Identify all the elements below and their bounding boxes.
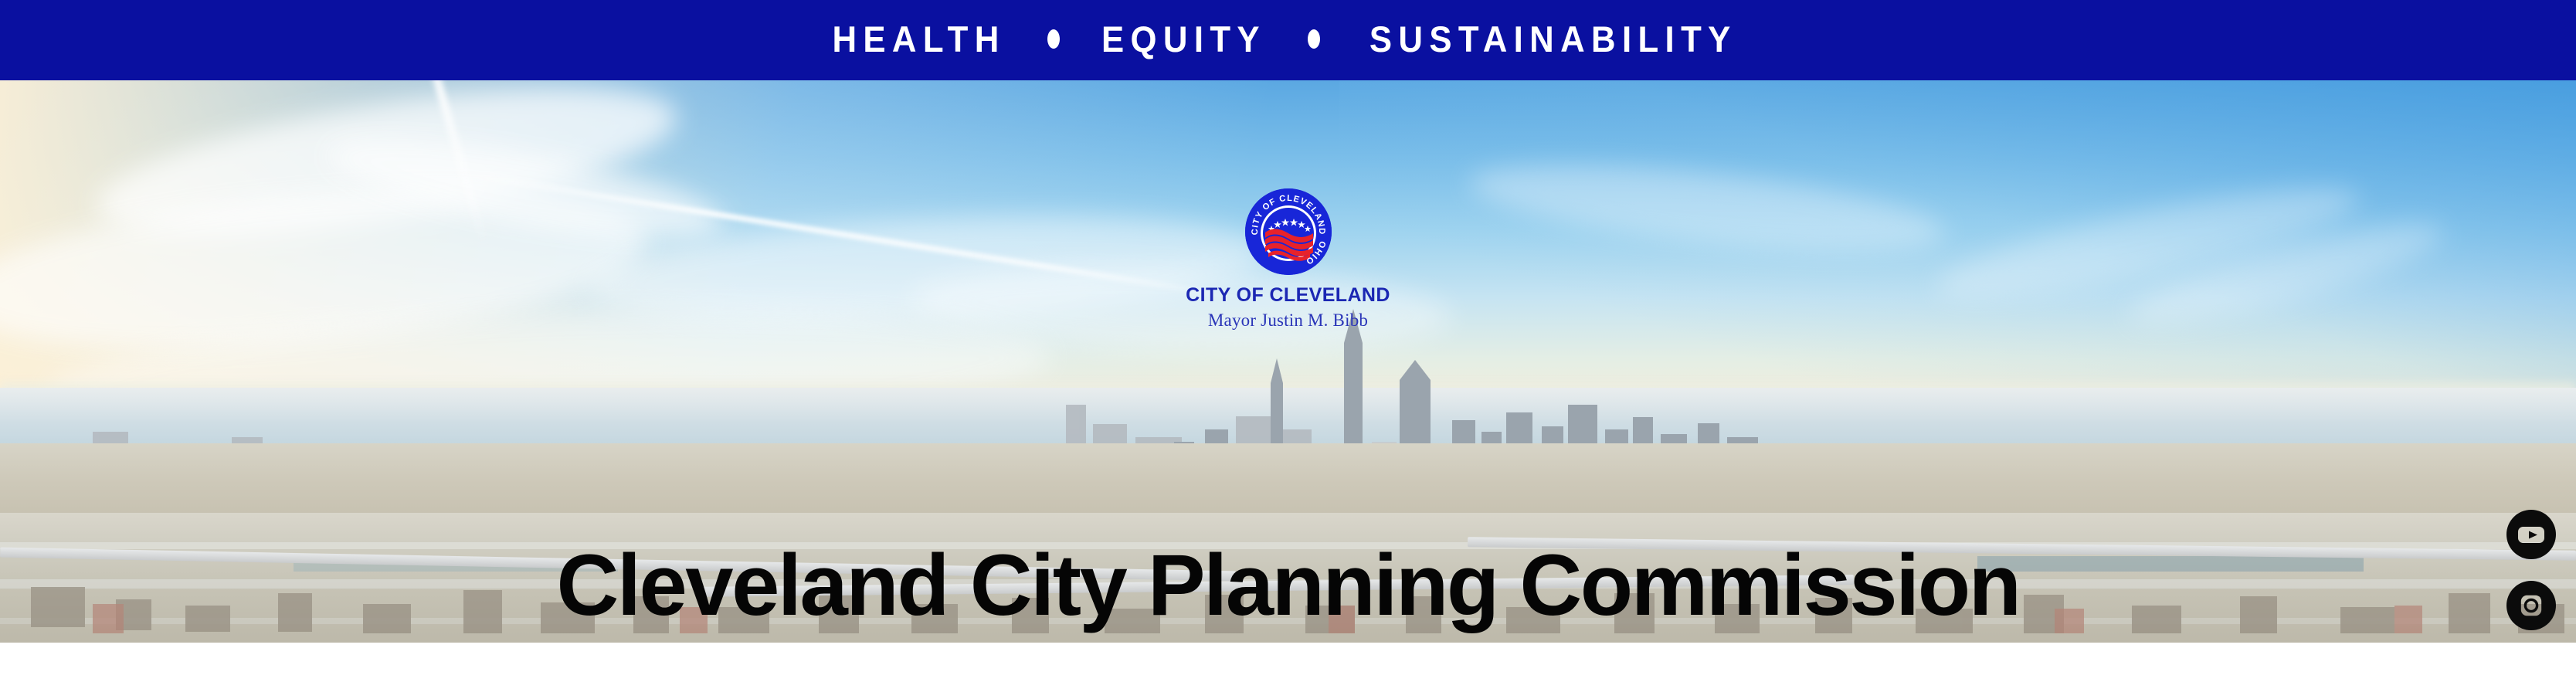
bullet-dot-icon [1047, 29, 1060, 49]
bullet-dot-icon [1308, 29, 1320, 49]
social-links [2506, 510, 2557, 643]
tagline-word-equity: EQUITY [1101, 21, 1266, 57]
tagline-word-health: HEALTH [832, 21, 1005, 57]
bottom-whitespace [0, 643, 2576, 682]
city-logo-subtitle: Mayor Justin M. Bibb [1208, 311, 1368, 329]
page-title: Cleveland City Planning Commission [0, 542, 2576, 629]
instagram-icon[interactable] [2506, 581, 2556, 630]
city-logo: CITY OF CLEVELAND OHIO CITY OF CLEVELAND… [1111, 188, 1466, 329]
city-logo-title: CITY OF CLEVELAND [1186, 286, 1390, 305]
youtube-icon[interactable] [2506, 510, 2556, 559]
hero-photo: CITY OF CLEVELAND OHIO CITY OF CLEVELAND… [0, 80, 2576, 643]
tagline-group: HEALTH EQUITY SUSTAINABILITY [826, 21, 1751, 57]
tagline-banner: HEALTH EQUITY SUSTAINABILITY [0, 0, 2576, 80]
instagram-glyph [2506, 581, 2556, 630]
youtube-glyph [2506, 510, 2556, 559]
city-seal-svg: CITY OF CLEVELAND OHIO [1245, 188, 1332, 275]
tagline-word-sustainability: SUSTAINABILITY [1369, 21, 1737, 57]
city-seal-icon: CITY OF CLEVELAND OHIO [1245, 188, 1332, 275]
